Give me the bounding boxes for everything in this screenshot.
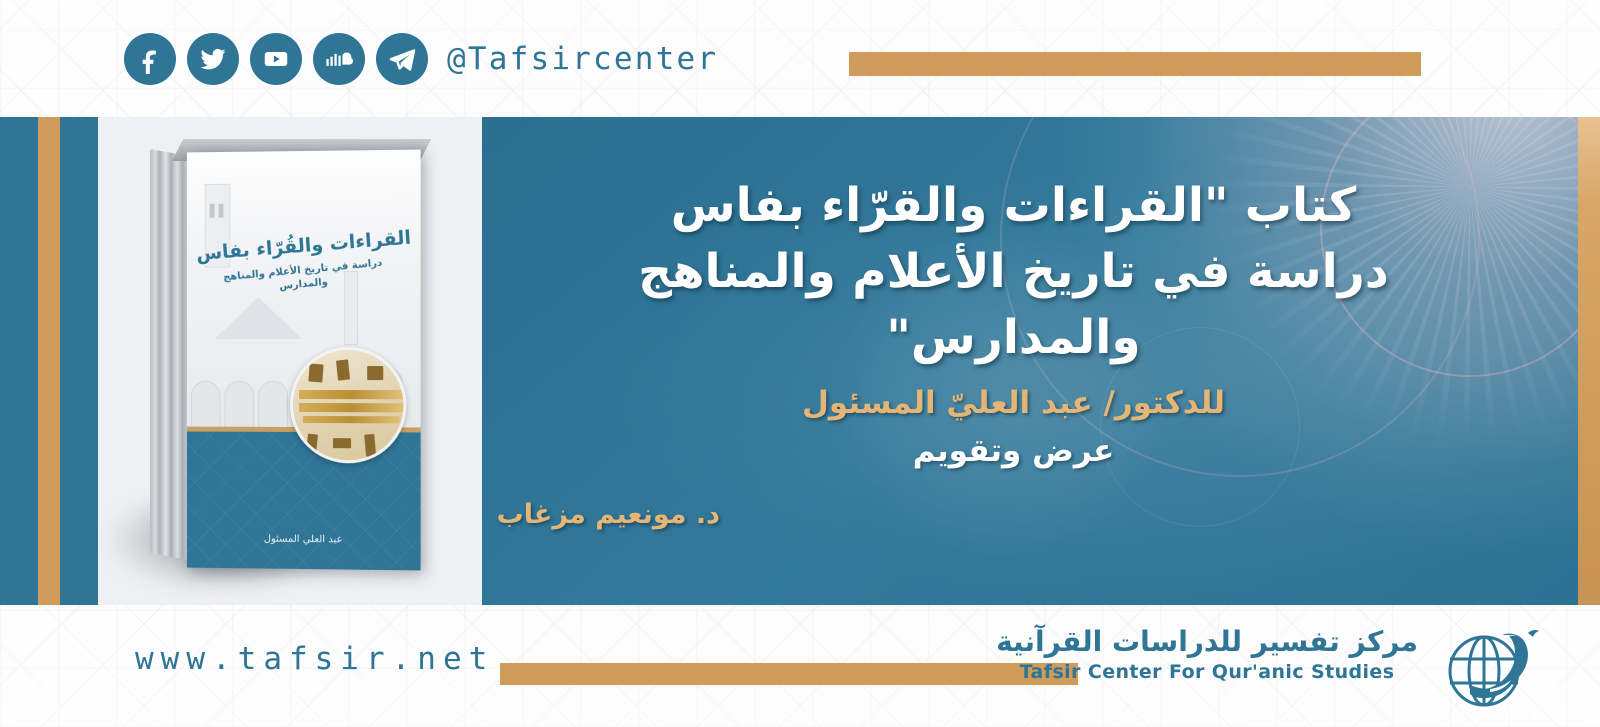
youtube-icon[interactable] <box>250 33 302 85</box>
logo-english-name: Tafsir Center For Qur'anic Studies <box>996 661 1418 683</box>
book-image-panel: القراءات والقُرّاء بفاس دراسة في تاريخ ا… <box>98 117 482 605</box>
telegram-icon[interactable] <box>376 33 428 85</box>
social-links-row <box>124 33 428 85</box>
cover-teal-band <box>187 432 421 571</box>
footer-logo-text: مركز تفسير للدراسات القرآنية Tafsir Cent… <box>996 625 1418 683</box>
cover-minaret-window <box>210 204 215 218</box>
right-gold-strip <box>1578 117 1600 605</box>
hero-title-line-2: دراسة في تاريخ الأعلام والمناهج والمدارس… <box>522 239 1505 371</box>
left-gold-stripe <box>38 117 60 605</box>
facebook-icon[interactable] <box>124 33 176 85</box>
website-url-link[interactable]: www.tafsir.net <box>135 641 494 677</box>
tafsir-globe-logo <box>1432 623 1560 715</box>
hero-text-block: كتاب "القراءات والقرّاء بفاس دراسة في تا… <box>522 173 1505 469</box>
header-bar: @Tafsircenter <box>0 0 1600 117</box>
cover-arch <box>191 381 221 429</box>
header-gold-bar <box>849 52 1421 76</box>
cover-arch <box>258 381 288 429</box>
book-mockup: القراءات والقُرّاء بفاس دراسة في تاريخ ا… <box>150 139 440 563</box>
soundcloud-icon[interactable] <box>313 33 365 85</box>
cover-roof <box>215 297 302 339</box>
hero-reviewer-name: د. مونعيم مزغاب <box>497 499 720 530</box>
hero-title-line-1: كتاب "القراءات والقرّاء بفاس <box>522 173 1505 239</box>
cover-arch <box>224 381 254 429</box>
footer-bar: www.tafsir.net مركز تفسير للدراسات القرآ… <box>0 605 1600 727</box>
cover-manuscript-circle <box>290 347 406 464</box>
hero-presentation-kind: عرض وتقويم <box>522 433 1505 469</box>
hero-author: للدكتور/ عبد العليّ المسئول <box>522 385 1505 421</box>
hero-panel: كتاب "القراءات والقرّاء بفاس دراسة في تا… <box>482 117 1600 605</box>
book-front-cover: القراءات والقُرّاء بفاس دراسة في تاريخ ا… <box>187 150 421 571</box>
social-handle-text: @Tafsircenter <box>447 41 718 77</box>
twitter-icon[interactable] <box>187 33 239 85</box>
footer-gold-bar <box>500 663 1078 685</box>
main-content-band: القراءات والقُرّاء بفاس دراسة في تاريخ ا… <box>0 117 1600 605</box>
left-teal-strip <box>0 117 98 605</box>
logo-arabic-name: مركز تفسير للدراسات القرآنية <box>996 625 1418 659</box>
cover-minaret-window-2 <box>219 204 224 218</box>
hero-title: كتاب "القراءات والقرّاء بفاس دراسة في تا… <box>522 173 1505 371</box>
